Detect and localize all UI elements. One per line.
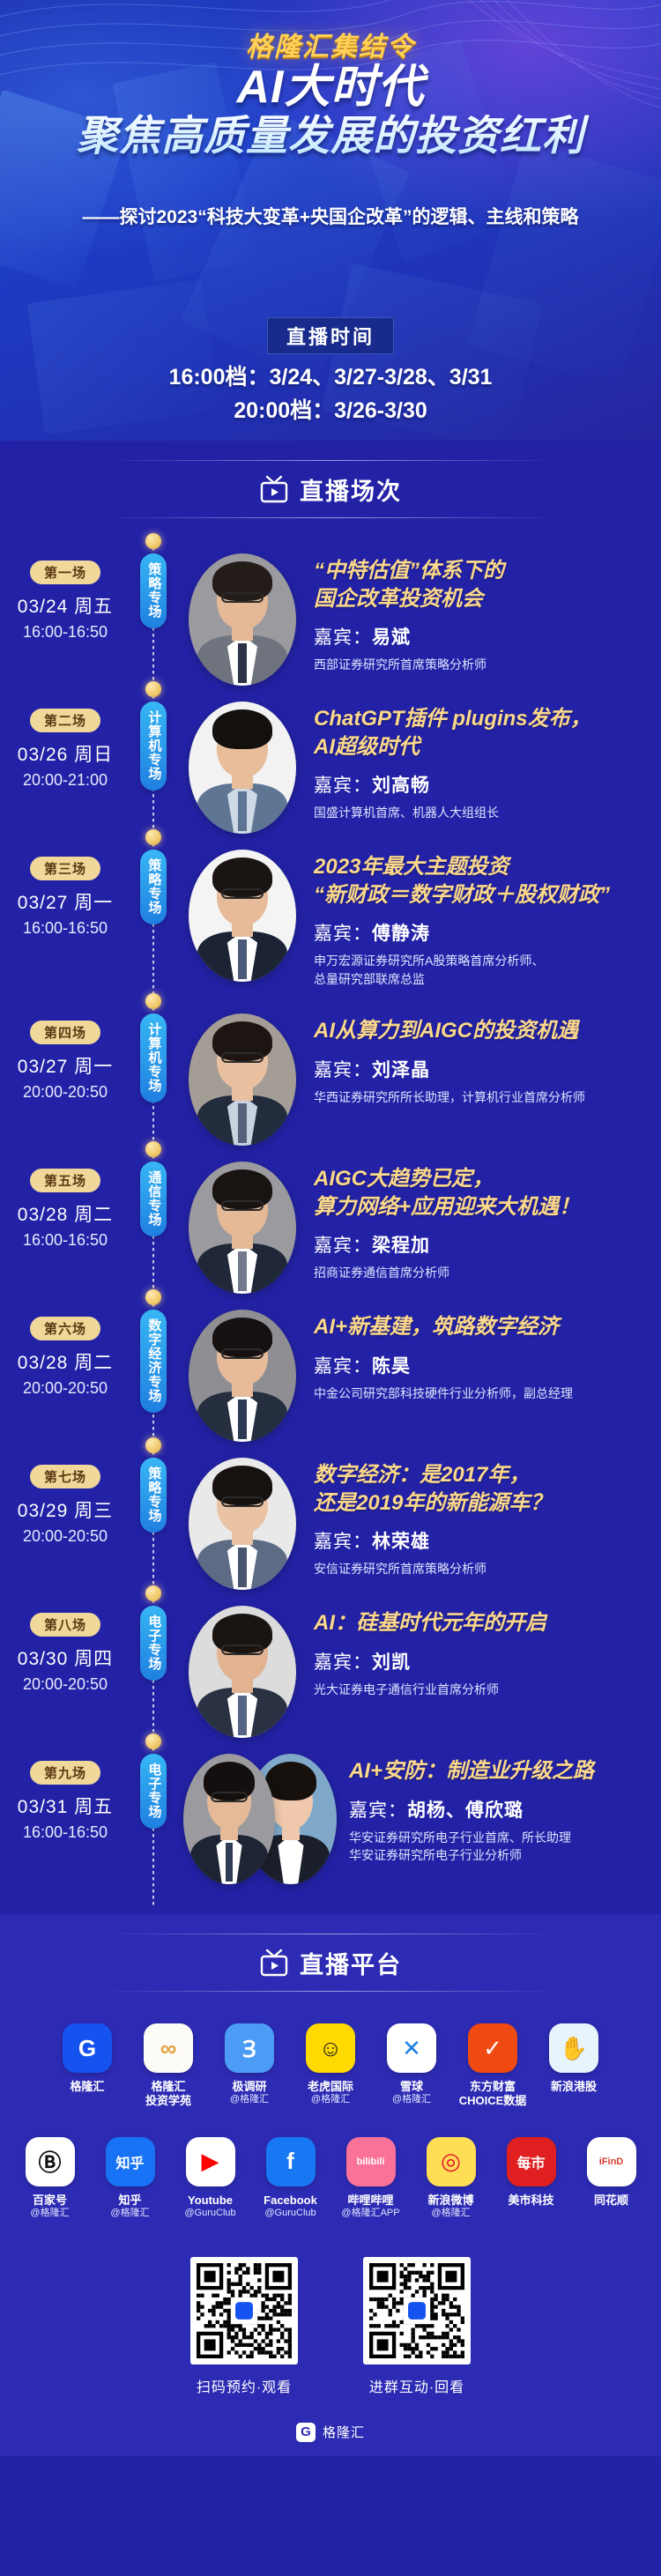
session-guest: 嘉宾：梁程加 xyxy=(314,1231,649,1258)
guest-name: 傅静涛 xyxy=(372,924,430,944)
platform-item[interactable]: ✕ 雪球 @格隆汇 xyxy=(377,2023,446,2109)
sina-hk-stock-icon[interactable]: ✋ xyxy=(549,2023,598,2073)
live-time-label: 直播时间 xyxy=(267,317,394,354)
session-photo xyxy=(176,837,308,1001)
session-time: 16:00-16:50 xyxy=(0,1231,130,1250)
session-guest-org: 中金公司研究部科技硬件行业分析师，副总经理 xyxy=(314,1385,649,1402)
platform-name: 极调研 xyxy=(215,2080,284,2094)
guest-name: 刘高畅 xyxy=(372,776,430,796)
session-org-block: 华西证券研究所所长助理，计算机行业首席分析师 xyxy=(314,1088,649,1106)
episode-badge: 第三场 xyxy=(30,857,100,880)
guest-label: 嘉宾： xyxy=(314,776,372,796)
group-qr[interactable]: 进群互动·回看 xyxy=(363,2257,471,2396)
session-photo xyxy=(176,1297,308,1445)
qr-caption: 进群互动·回看 xyxy=(363,2375,471,2396)
episode-badge: 第一场 xyxy=(30,560,100,584)
session-date: 03/28 周二 xyxy=(0,1348,130,1375)
category-badge[interactable]: 通信专场 xyxy=(140,1162,167,1236)
page-footer: G 格隆汇 xyxy=(0,2409,661,2456)
platform-name: Facebook xyxy=(256,2194,324,2208)
guest-label: 嘉宾： xyxy=(314,1532,372,1552)
session-date-column: 第四场 03/27 周一 20:00-20:50 xyxy=(0,1001,130,1149)
session-title-line: AI：硅基时代元年的开启 xyxy=(314,1609,649,1637)
session-row[interactable]: 第三场 03/27 周一 16:00-16:50 策略专场 2023年最大主题投… xyxy=(0,837,661,1001)
session-org-block: 西部证券研究所首席策略分析师 xyxy=(314,656,649,673)
session-guest: 嘉宾：刘高畅 xyxy=(314,771,649,798)
session-date-column: 第九场 03/31 周五 16:00-16:50 xyxy=(0,1741,130,1905)
hero-subtitle: ——探讨2023“科技大变革+央国企改革”的逻辑、主线和策略 xyxy=(0,203,661,229)
session-guest-org: 华安证券研究所电子行业首席、所长助理 xyxy=(349,1829,649,1846)
category-badge-label: 通信专场 xyxy=(146,1170,161,1227)
session-date-column: 第五场 03/28 周二 16:00-16:50 xyxy=(0,1149,130,1297)
session-title: AI+安防：制造业升级之路 xyxy=(349,1757,649,1785)
session-row[interactable]: 第七场 03/29 周三 20:00-20:50 策略专场 数字经济：是2017… xyxy=(0,1445,661,1593)
platform-handle: @格隆汇 xyxy=(215,2094,284,2106)
session-photo xyxy=(176,1593,308,1741)
divider xyxy=(104,517,557,518)
session-date-column: 第二场 03/26 周日 20:00-21:00 xyxy=(0,689,130,837)
session-time: 16:00-16:50 xyxy=(0,919,130,938)
category-badge-label: 策略专场 xyxy=(146,562,161,619)
session-row[interactable]: 第一场 03/24 周五 16:00-16:50 策略专场 “中特估值”体系下的… xyxy=(0,541,661,689)
session-title-line: 国企改革投资机会 xyxy=(314,585,649,613)
session-time: 16:00-16:50 xyxy=(0,1823,130,1842)
session-date-column: 第八场 03/30 周四 20:00-20:50 xyxy=(0,1593,130,1741)
session-title-line: 算力网络+应用迎来大机遇！ xyxy=(314,1193,649,1221)
session-title-line: AI+安防：制造业升级之路 xyxy=(349,1757,649,1785)
guest-label: 嘉宾： xyxy=(314,1236,372,1256)
session-title: “中特估值”体系下的国企改革投资机会 xyxy=(314,557,649,612)
session-title: AI从算力到AIGC的投资机遇 xyxy=(314,1017,649,1045)
session-date: 03/30 周四 xyxy=(0,1644,130,1671)
episode-badge: 第二场 xyxy=(30,709,100,732)
time-slot-1: 16:00档：3/24、3/27-3/28、3/31 xyxy=(0,360,661,391)
session-time: 20:00-20:50 xyxy=(0,1527,130,1546)
session-title-line: AIGC大趋势已定， xyxy=(314,1165,649,1193)
time-slot-2: 20:00档：3/26-3/30 xyxy=(0,393,661,425)
category-badge[interactable]: 电子专场 xyxy=(140,1606,167,1681)
session-time: 20:00-20:50 xyxy=(0,1083,130,1102)
platform-glyph: ✕ xyxy=(402,2035,421,2062)
platform-item[interactable]: ✋ 新浪港股 xyxy=(539,2023,608,2109)
platform-name-line2: 投资学苑 xyxy=(134,2094,203,2108)
platform-item[interactable]: Ɜ 极调研 @格隆汇 xyxy=(215,2023,284,2109)
session-title-line: 还是2019年的新能源车？ xyxy=(314,1489,649,1518)
session-date-column: 第一场 03/24 周五 16:00-16:50 xyxy=(0,541,130,689)
jidiaoyan-icon[interactable]: Ɜ xyxy=(225,2023,274,2073)
session-info: AI+新基建，筑路数字经济 嘉宾：陈昊 中金公司研究部科技硬件行业分析师，副总经… xyxy=(308,1297,661,1445)
session-guest: 嘉宾：易斌 xyxy=(314,623,649,650)
platform-name: 美市科技 xyxy=(497,2194,565,2208)
episode-badge: 第五场 xyxy=(30,1169,100,1192)
brand-badge: 格隆汇集结令 xyxy=(0,25,661,63)
platform-item[interactable]: f Facebook @GuruClub xyxy=(256,2137,324,2220)
schedule-section-title: 直播场次 xyxy=(300,472,402,507)
platform-glyph: G xyxy=(78,2035,96,2062)
session-date: 03/27 周一 xyxy=(0,888,130,915)
live-tv-icon xyxy=(259,1949,289,1977)
session-row[interactable]: 第九场 03/31 周五 16:00-16:50 电子专场 xyxy=(0,1741,661,1905)
platform-row-1: G 格隆汇 ∞ 格隆汇 投资学苑 Ɜ 极调研 @格隆汇 ☺ 老虎国际 @格隆汇 … xyxy=(0,2011,661,2109)
session-date: 03/31 周五 xyxy=(0,1793,130,1819)
avatar xyxy=(189,850,296,982)
category-badge-label: 电子专场 xyxy=(146,1615,161,1671)
qr-code-image[interactable] xyxy=(363,2257,471,2364)
session-info: ChatGPT插件 plugins发布，AI超级时代 嘉宾：刘高畅 国盛计算机首… xyxy=(308,689,661,837)
session-info: 2023年最大主题投资“新财政＝数字财政＋股权财政” 嘉宾：傅静涛 申万宏源证券… xyxy=(308,837,661,1001)
title-line-1: AI大时代 xyxy=(236,62,424,113)
session-row[interactable]: 第五场 03/28 周二 16:00-16:50 通信专场 AIGC大趋势已定，… xyxy=(0,1149,661,1297)
session-date: 03/28 周二 xyxy=(0,1200,130,1227)
portrait-illustration xyxy=(189,1013,296,1146)
session-list: 第一场 03/24 周五 16:00-16:50 策略专场 “中特估值”体系下的… xyxy=(0,538,661,1914)
guest-name: 刘泽晶 xyxy=(372,1060,430,1080)
guest-name: 梁程加 xyxy=(372,1236,430,1256)
guest-label: 嘉宾： xyxy=(314,1356,372,1377)
title-line-2: 聚焦高质量发展的投资红利 xyxy=(0,113,661,160)
guest-name: 陈昊 xyxy=(372,1356,411,1377)
session-guest-org: 华安证券研究所电子行业分析师 xyxy=(349,1846,649,1864)
platform-glyph: ∞ xyxy=(160,2035,177,2062)
session-guest-org: 光大证券电子通信行业首席分析师 xyxy=(314,1681,649,1698)
category-badge[interactable]: 策略专场 xyxy=(140,850,167,924)
platform-handle: @GuruClub xyxy=(176,2208,244,2220)
platform-item[interactable]: bilibili 哔哩哔哩 @格隆汇APP xyxy=(337,2137,405,2220)
category-badge-label: 电子专场 xyxy=(146,1763,161,1819)
avatar xyxy=(189,702,296,834)
zhihu-icon[interactable]: 知乎 xyxy=(106,2137,155,2186)
session-org-block: 申万宏源证券研究所A股策略首席分析师、总量研究部联席总监 xyxy=(314,952,649,988)
platform-handle: @格隆汇 xyxy=(16,2208,84,2220)
session-guest-org: 总量研究部联席总监 xyxy=(314,970,649,988)
timeline-track: 策略专场 xyxy=(130,837,176,1001)
platform-name: 格隆汇 xyxy=(53,2080,122,2094)
portrait-illustration xyxy=(189,1162,296,1294)
platform-name: 哔哩哔哩 xyxy=(337,2194,405,2208)
schedule-section-header: 直播场次 xyxy=(0,441,661,538)
platform-name: 老虎国际 xyxy=(296,2080,365,2094)
timeline-track: 电子专场 xyxy=(130,1741,176,1905)
platform-name: 雪球 xyxy=(377,2080,446,2094)
timeline-track: 数字经济专场 xyxy=(130,1297,176,1445)
session-date-column: 第七场 03/29 周三 20:00-20:50 xyxy=(0,1445,130,1593)
platform-grid: G 格隆汇 ∞ 格隆汇 投资学苑 Ɜ 极调研 @格隆汇 ☺ 老虎国际 @格隆汇 … xyxy=(0,2011,661,2243)
session-guest: 嘉宾：刘凯 xyxy=(314,1648,649,1674)
platform-name: 知乎 xyxy=(96,2194,164,2208)
gelonghui-academy-icon[interactable]: ∞ xyxy=(144,2023,193,2073)
platform-handle: @格隆汇 xyxy=(417,2208,485,2220)
ifind-icon[interactable]: iFinD xyxy=(587,2137,636,2186)
portrait-illustration xyxy=(189,1310,296,1442)
platform-item[interactable]: ▶ Youtube @GuruClub xyxy=(176,2137,244,2220)
session-title-line: AI超级时代 xyxy=(314,733,649,761)
session-title: ChatGPT插件 plugins发布，AI超级时代 xyxy=(314,705,649,761)
platform-item[interactable]: ☺ 老虎国际 @格隆汇 xyxy=(296,2023,365,2109)
episode-badge: 第八场 xyxy=(30,1613,100,1637)
timeline-track: 电子专场 xyxy=(130,1593,176,1741)
session-row[interactable]: 第六场 03/28 周二 20:00-20:50 数字经济专场 AI+新基建，筑… xyxy=(0,1297,661,1445)
platform-glyph: Ɜ xyxy=(242,2032,256,2064)
weibo-icon[interactable]: ◎ xyxy=(427,2137,476,2186)
platform-name: 东方财富 xyxy=(458,2080,527,2094)
portrait-illustration xyxy=(189,1606,296,1738)
category-badge[interactable]: 电子专场 xyxy=(140,1754,167,1829)
session-photo xyxy=(176,1001,308,1149)
avatar xyxy=(189,1013,296,1146)
session-guest-org: 申万宏源证券研究所A股策略首席分析师、 xyxy=(314,952,649,969)
session-title-line: 数字经济：是2017年， xyxy=(314,1461,649,1489)
facebook-icon[interactable]: f xyxy=(266,2137,316,2186)
timeline-node-icon xyxy=(145,1585,161,1601)
session-title-line: “新财政＝数字财政＋股权财政” xyxy=(314,881,649,909)
session-time: 16:00-16:50 xyxy=(0,623,130,642)
platform-section-title: 直播平台 xyxy=(300,1946,402,1980)
platform-glyph: ✋ xyxy=(560,2035,588,2062)
session-date: 03/29 周三 xyxy=(0,1496,130,1523)
guest-name: 易斌 xyxy=(372,627,411,648)
timeline-track: 策略专场 xyxy=(130,541,176,689)
category-badge[interactable]: 数字经济专场 xyxy=(140,1310,167,1413)
platform-item[interactable]: iFinD 同花顺 xyxy=(577,2137,645,2220)
category-badge-label: 策略专场 xyxy=(146,1466,161,1523)
footer-brand-text: 格隆汇 xyxy=(323,2423,365,2441)
avatar xyxy=(189,1162,296,1294)
avatar xyxy=(189,1606,296,1738)
platform-glyph: 知乎 xyxy=(115,2151,144,2172)
platform-glyph: iFinD xyxy=(599,2157,624,2167)
session-photos xyxy=(176,1741,344,1905)
platform-section-header: 直播平台 xyxy=(0,1914,661,2011)
tiger-brokers-icon[interactable]: ☺ xyxy=(306,2023,355,2073)
divider xyxy=(104,1991,557,1992)
gelonghui-logo-icon: G xyxy=(296,2423,316,2442)
category-badge-label: 计算机专场 xyxy=(146,1022,161,1093)
session-photo xyxy=(176,1149,308,1297)
session-org-block: 安信证券研究所首席策略分析师 xyxy=(314,1560,649,1578)
session-guest: 嘉宾：林荣雄 xyxy=(314,1527,649,1554)
session-guest-org: 西部证券研究所首席策略分析师 xyxy=(314,656,649,673)
session-title: AI：硅基时代元年的开启 xyxy=(314,1609,649,1637)
category-badge[interactable]: 计算机专场 xyxy=(140,702,167,791)
category-badge-label: 数字经济专场 xyxy=(146,1318,161,1403)
platform-item[interactable]: 每市 美市科技 xyxy=(497,2137,565,2220)
platform-row-2: Ⓑ 百家号 @格隆汇 知乎 知乎 @格隆汇 ▶ Youtube @GuruClu… xyxy=(0,2125,661,2220)
platform-glyph: ☺ xyxy=(319,2035,343,2062)
session-title-line: AI从算力到AIGC的投资机遇 xyxy=(314,1017,649,1045)
timeline-node-icon xyxy=(145,993,161,1009)
session-date: 03/27 周一 xyxy=(0,1052,130,1079)
timeline-node-icon xyxy=(145,1141,161,1157)
session-guest-org: 招商证券通信首席分析师 xyxy=(314,1264,649,1281)
session-date: 03/26 周日 xyxy=(0,740,130,767)
platform-glyph: ◎ xyxy=(441,2148,461,2175)
session-guest: 嘉宾：傅静涛 xyxy=(314,919,649,946)
session-org-block: 华安证券研究所电子行业首席、所长助理华安证券研究所电子行业分析师 xyxy=(349,1829,649,1865)
appointment-qr[interactable]: 扫码预约·观看 xyxy=(190,2257,298,2396)
session-title-line: AI+新基建，筑路数字经济 xyxy=(314,1313,649,1341)
session-title-line: “中特估值”体系下的 xyxy=(314,557,649,585)
session-org-block: 光大证券电子通信行业首席分析师 xyxy=(314,1681,649,1698)
guest-label: 嘉宾： xyxy=(314,1060,372,1080)
platform-name: 同花顺 xyxy=(577,2194,645,2208)
portrait-illustration xyxy=(189,1458,296,1590)
session-date: 03/24 周五 xyxy=(0,592,130,619)
session-row[interactable]: 第四场 03/27 周一 20:00-20:50 计算机专场 AI从算力到AIG… xyxy=(0,1001,661,1149)
session-title: AIGC大趋势已定，算力网络+应用迎来大机遇！ xyxy=(314,1165,649,1221)
baijiahao-icon[interactable]: Ⓑ xyxy=(26,2137,75,2186)
session-info: 数字经济：是2017年，还是2019年的新能源车？ 嘉宾：林荣雄 安信证券研究所… xyxy=(308,1445,661,1593)
session-photo xyxy=(176,1445,308,1593)
avatar xyxy=(189,1310,296,1442)
qr-code-image[interactable] xyxy=(190,2257,298,2364)
portrait-illustration xyxy=(183,1754,275,1884)
platform-item[interactable]: 知乎 知乎 @格隆汇 xyxy=(96,2137,164,2220)
guest-label: 嘉宾： xyxy=(314,627,372,648)
timeline-track: 计算机专场 xyxy=(130,1001,176,1149)
timeline-node-icon xyxy=(145,533,161,549)
platform-glyph: Ⓑ xyxy=(38,2145,61,2178)
platform-name: 格隆汇 xyxy=(134,2080,203,2094)
platform-item[interactable]: ∞ 格隆汇 投资学苑 xyxy=(134,2023,203,2109)
platform-name: 百家号 xyxy=(16,2194,84,2208)
portrait-illustration xyxy=(189,850,296,982)
guest-name: 林荣雄 xyxy=(372,1532,430,1552)
page-title: AI大时代 聚焦高质量发展的投资红利 xyxy=(0,62,661,160)
live-tv-icon xyxy=(259,475,289,503)
platform-item[interactable]: G 格隆汇 xyxy=(53,2023,122,2109)
platform-handle: @GuruClub xyxy=(256,2208,324,2220)
session-guest: 嘉宾：刘泽晶 xyxy=(314,1056,649,1082)
session-title: 数字经济：是2017年，还是2019年的新能源车？ xyxy=(314,1461,649,1517)
platform-glyph: 每市 xyxy=(516,2151,545,2172)
session-photo xyxy=(176,541,308,689)
youtube-icon[interactable]: ▶ xyxy=(186,2137,235,2186)
timeline-node-icon xyxy=(145,1437,161,1453)
hero-banner: 格隆汇集结令 AI大时代 聚焦高质量发展的投资红利 ——探讨2023“科技大变革… xyxy=(0,0,661,441)
eastmoney-choice-icon[interactable]: ✓ xyxy=(468,2023,517,2073)
timeline-track: 策略专场 xyxy=(130,1445,176,1593)
platform-name: 新浪微博 xyxy=(417,2194,485,2208)
guest-label: 嘉宾： xyxy=(349,1800,407,1821)
session-row[interactable]: 第二场 03/26 周日 20:00-21:00 计算机专场 ChatGPT插件… xyxy=(0,689,661,837)
platform-handle: @格隆汇APP xyxy=(337,2208,405,2220)
gelonghui-icon[interactable]: G xyxy=(63,2023,112,2073)
session-photo xyxy=(176,689,308,837)
session-title: 2023年最大主题投资“新财政＝数字财政＋股权财政” xyxy=(314,853,649,909)
platform-glyph: ▶ xyxy=(202,2148,219,2175)
episode-badge: 第七场 xyxy=(30,1465,100,1488)
category-badge[interactable]: 计算机专场 xyxy=(140,1013,167,1102)
platform-item[interactable]: Ⓑ 百家号 @格隆汇 xyxy=(16,2137,84,2220)
session-guest-org: 国盛计算机首席、机器人大组组长 xyxy=(314,804,649,821)
platform-name-line2: CHOICE数据 xyxy=(458,2094,527,2108)
guest-label: 嘉宾： xyxy=(314,924,372,944)
avatar xyxy=(189,553,296,686)
session-guest-org: 华西证券研究所所长助理，计算机行业首席分析师 xyxy=(314,1088,649,1106)
portrait-illustration xyxy=(189,702,296,834)
bilibili-icon[interactable]: bilibili xyxy=(346,2137,396,2186)
session-info: AIGC大趋势已定，算力网络+应用迎来大机遇！ 嘉宾：梁程加 招商证券通信首席分… xyxy=(308,1149,661,1297)
divider xyxy=(104,1934,557,1934)
session-guest: 嘉宾：陈昊 xyxy=(314,1352,649,1378)
divider xyxy=(104,460,557,461)
platform-handle: @格隆汇 xyxy=(377,2094,446,2106)
episode-badge: 第六场 xyxy=(30,1317,100,1340)
qr-caption: 扫码预约·观看 xyxy=(190,2375,298,2396)
session-row[interactable]: 第八场 03/30 周四 20:00-20:50 电子专场 AI：硅基时代元年的… xyxy=(0,1593,661,1741)
timeline-node-icon xyxy=(145,681,161,697)
session-title: AI+新基建，筑路数字经济 xyxy=(314,1313,649,1341)
session-date-column: 第六场 03/28 周二 20:00-20:50 xyxy=(0,1297,130,1445)
session-info: “中特估值”体系下的国企改革投资机会 嘉宾：易斌 西部证券研究所首席策略分析师 xyxy=(308,541,661,689)
platform-glyph: ✓ xyxy=(483,2035,502,2062)
platform-glyph: f xyxy=(286,2148,294,2175)
timeline-node-icon xyxy=(145,1733,161,1749)
session-info: AI：硅基时代元年的开启 嘉宾：刘凯 光大证券电子通信行业首席分析师 xyxy=(308,1593,661,1741)
guest-label: 嘉宾： xyxy=(314,1652,372,1673)
episode-badge: 第四场 xyxy=(30,1021,100,1044)
timeline-track: 通信专场 xyxy=(130,1149,176,1297)
session-info: AI+安防：制造业升级之路 嘉宾：胡杨、傅欣璐 华安证券研究所电子行业首席、所长… xyxy=(344,1741,661,1905)
session-title-line: 2023年最大主题投资 xyxy=(314,853,649,881)
session-guest: 嘉宾：胡杨、傅欣璐 xyxy=(349,1796,649,1823)
session-info: AI从算力到AIGC的投资机遇 嘉宾：刘泽晶 华西证券研究所所长助理，计算机行业… xyxy=(308,1001,661,1149)
session-guest-org: 安信证券研究所首席策略分析师 xyxy=(314,1560,649,1578)
timeline-track: 计算机专场 xyxy=(130,689,176,837)
episode-badge: 第九场 xyxy=(30,1761,100,1785)
platform-handle: @格隆汇 xyxy=(296,2094,365,2106)
category-badge-label: 计算机专场 xyxy=(146,710,161,781)
xueqiu-icon[interactable]: ✕ xyxy=(387,2023,436,2073)
session-time: 20:00-20:50 xyxy=(0,1379,130,1398)
session-title-line: ChatGPT插件 plugins发布， xyxy=(314,705,649,733)
avatar xyxy=(183,1754,275,1884)
portrait-illustration xyxy=(189,553,296,686)
category-badge[interactable]: 策略专场 xyxy=(140,553,167,628)
category-badge-label: 策略专场 xyxy=(146,858,161,915)
session-org-block: 中金公司研究部科技硬件行业分析师，副总经理 xyxy=(314,1385,649,1402)
guest-name: 胡杨、傅欣璐 xyxy=(407,1800,524,1821)
qr-section: 扫码预约·观看 进群互动·回看 xyxy=(0,2243,661,2409)
platform-item[interactable]: ✓ 东方财富 CHOICE数据 xyxy=(458,2023,527,2109)
session-time: 20:00-21:00 xyxy=(0,771,130,790)
session-time: 20:00-20:50 xyxy=(0,1675,130,1694)
session-date-column: 第三场 03/27 周一 16:00-16:50 xyxy=(0,837,130,1001)
platform-glyph: bilibili xyxy=(357,2157,385,2167)
platform-name: 新浪港股 xyxy=(539,2080,608,2094)
session-org-block: 招商证券通信首席分析师 xyxy=(314,1264,649,1281)
timeline-node-icon xyxy=(145,829,161,845)
platform-item[interactable]: ◎ 新浪微博 @格隆汇 xyxy=(417,2137,485,2220)
platform-handle: @格隆汇 xyxy=(96,2208,164,2220)
poster-page: 格隆汇集结令 AI大时代 聚焦高质量发展的投资红利 ——探讨2023“科技大变革… xyxy=(0,0,661,2576)
timeline-node-icon xyxy=(145,1289,161,1305)
category-badge[interactable]: 策略专场 xyxy=(140,1458,167,1533)
avatar xyxy=(189,1458,296,1590)
guest-name: 刘凯 xyxy=(372,1652,411,1673)
session-org-block: 国盛计算机首席、机器人大组组长 xyxy=(314,804,649,821)
meishi-tech-icon[interactable]: 每市 xyxy=(507,2137,556,2186)
platform-name: Youtube xyxy=(176,2194,244,2208)
